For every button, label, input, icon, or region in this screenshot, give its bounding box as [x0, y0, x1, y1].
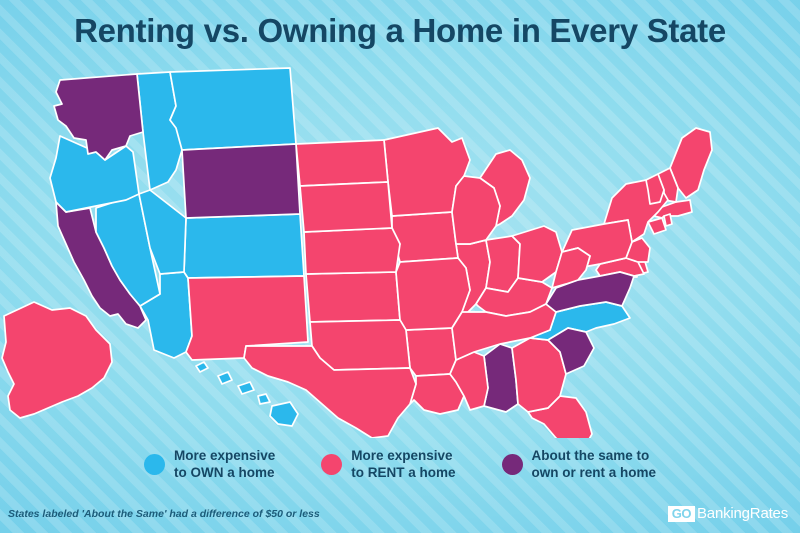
- legend-label-rent-line1: More expensive: [351, 448, 452, 463]
- legend-label-same: About the same to own or rent a home: [532, 448, 657, 481]
- page-title: Renting vs. Owning a Home in Every State: [0, 14, 800, 47]
- legend-label-same-line1: About the same to: [532, 448, 650, 463]
- legend-label-same-line2: own or rent a home: [532, 465, 657, 480]
- legend-label-own-line2: to OWN a home: [174, 465, 275, 480]
- legend-label-rent: More expensive to RENT a home: [351, 448, 455, 481]
- state-ks[interactable]: Kansas: [306, 272, 400, 322]
- legend-label-own: More expensive to OWN a home: [174, 448, 275, 481]
- state-nd[interactable]: North Dakota: [296, 140, 388, 186]
- legend-swatch-same-icon: [502, 454, 523, 475]
- legend-swatch-own-icon: [144, 454, 165, 475]
- state-ar[interactable]: Arkansas: [406, 328, 456, 376]
- state-ri[interactable]: Rhode Island: [664, 214, 672, 226]
- map-svg: AlabamaAlaskaArizonaArkansasCaliforniaCo…: [0, 66, 800, 438]
- state-co[interactable]: Colorado: [184, 214, 304, 278]
- state-wy[interactable]: Wyoming: [182, 144, 300, 218]
- us-choropleth-map: AlabamaAlaskaArizonaArkansasCaliforniaCo…: [0, 66, 800, 438]
- legend-swatch-rent-icon: [321, 454, 342, 475]
- state-sd[interactable]: South Dakota: [300, 182, 392, 232]
- legend-item-same: About the same to own or rent a home: [502, 448, 657, 481]
- state-mt[interactable]: Montana: [170, 68, 296, 150]
- brand-mark-icon: GO: [668, 506, 695, 522]
- legend-label-own-line1: More expensive: [174, 448, 275, 463]
- state-ia[interactable]: Iowa: [392, 212, 458, 262]
- states-layer: AlabamaAlaskaArizonaArkansasCaliforniaCo…: [2, 68, 712, 438]
- state-ne[interactable]: Nebraska: [304, 228, 400, 274]
- state-oh[interactable]: Ohio: [512, 226, 562, 282]
- legend-item-rent: More expensive to RENT a home: [321, 448, 455, 481]
- legend-label-rent-line2: to RENT a home: [351, 465, 455, 480]
- state-wi[interactable]: Wisconsin: [452, 176, 500, 244]
- legend-item-own: More expensive to OWN a home: [144, 448, 275, 481]
- legend: More expensive to OWN a home More expens…: [0, 448, 800, 481]
- infographic-canvas: Renting vs. Owning a Home in Every State…: [0, 0, 800, 533]
- brand-name: BankingRates: [697, 506, 788, 523]
- footnote: States labeled 'About the Same' had a di…: [8, 508, 320, 520]
- state-ak[interactable]: Alaska: [2, 302, 112, 418]
- brand-logo: GO BankingRates: [668, 506, 788, 523]
